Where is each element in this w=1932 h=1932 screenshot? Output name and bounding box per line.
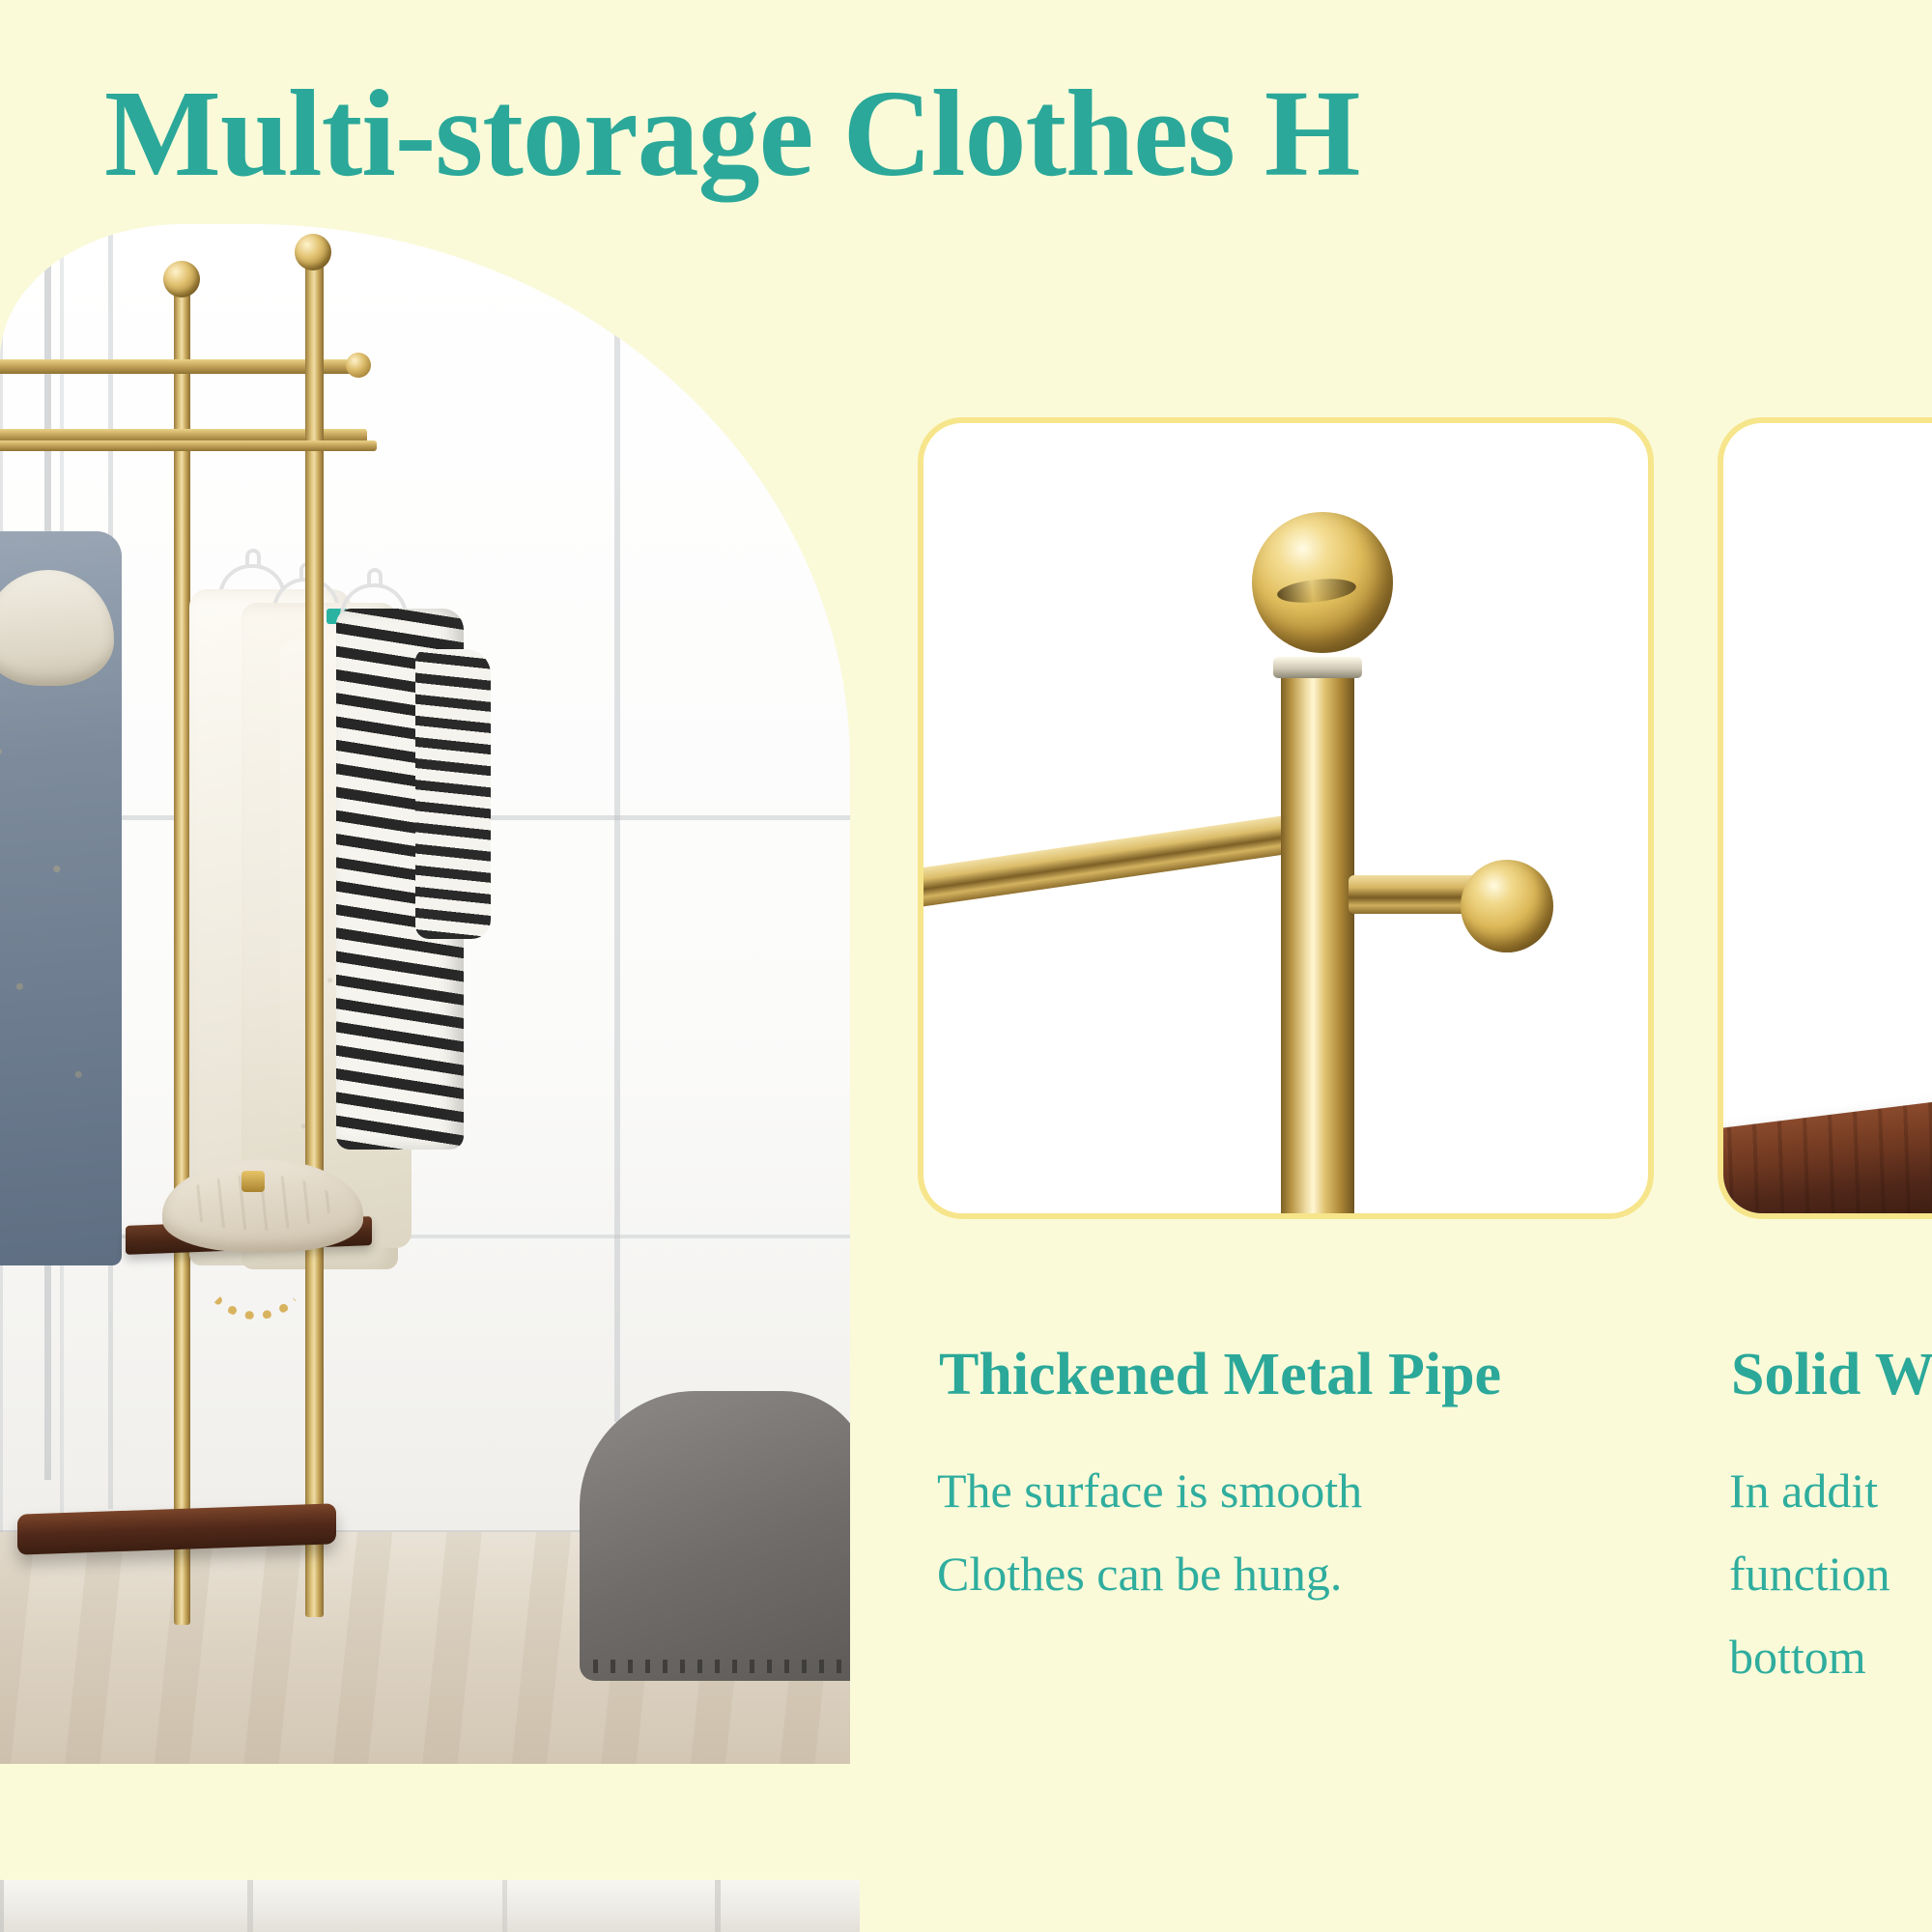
gold-rail xyxy=(923,813,1303,911)
feature-card-wood-shelf-image xyxy=(1723,423,1932,1213)
rack-arm-knob-icon xyxy=(346,353,371,378)
hero-product-photo xyxy=(0,224,850,1764)
window-frame-vertical xyxy=(614,224,620,1422)
feature-1-heading: Thickened Metal Pipe xyxy=(939,1341,1501,1408)
bottom-photo-strip xyxy=(0,1880,860,1932)
gold-small-ball-icon xyxy=(1461,860,1553,952)
page-root: Multi-storage Clothes H xyxy=(0,0,1932,1932)
feature-card-metal-pipe-image xyxy=(923,423,1648,1213)
grey-sofa xyxy=(580,1391,850,1681)
feature-2-line-3: bottom xyxy=(1729,1615,1890,1698)
chrome-collar xyxy=(1273,657,1362,678)
rack-post-front xyxy=(305,265,324,1617)
feature-2-body: In addit function bottom xyxy=(1729,1449,1890,1698)
gold-post xyxy=(1281,667,1354,1213)
handbag-clasp-icon xyxy=(241,1171,265,1192)
hanger-hook-icon xyxy=(367,568,383,585)
page-title: Multi-storage Clothes H xyxy=(104,75,1932,191)
ball-finial-icon xyxy=(163,261,200,298)
hanger-hook-icon xyxy=(245,549,261,566)
feature-2-line-1: In addit xyxy=(1729,1449,1890,1532)
rack-post-back xyxy=(174,292,190,1625)
feature-card-metal-pipe xyxy=(918,417,1654,1219)
walnut-wood-shelf xyxy=(1723,1063,1932,1213)
ball-finial-icon xyxy=(295,234,331,270)
feature-2-line-2: function xyxy=(1729,1532,1890,1615)
feature-2-heading: Solid W xyxy=(1731,1341,1932,1408)
feature-1-body: The surface is smooth Clothes can be hun… xyxy=(937,1449,1362,1615)
feature-1-line-1: The surface is smooth xyxy=(937,1449,1362,1532)
feature-card-wood-shelf xyxy=(1718,417,1932,1219)
gold-ball-finial-icon xyxy=(1252,512,1393,653)
feature-1-line-2: Clothes can be hung. xyxy=(937,1532,1362,1615)
hero-scene xyxy=(0,224,850,1764)
garment-striped-sleeve xyxy=(415,649,491,939)
rack-hanging-bar xyxy=(0,440,377,451)
